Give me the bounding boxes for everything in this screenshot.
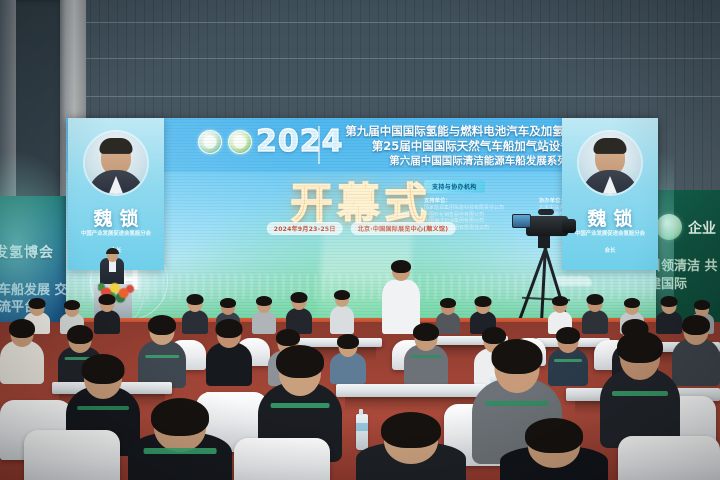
audience-person <box>0 322 44 384</box>
side-banner-left-line1: 发氢博会 <box>0 242 66 262</box>
audience-person <box>128 404 232 480</box>
audience-person <box>582 296 608 334</box>
audience-person <box>286 294 312 334</box>
audience-chair <box>24 430 120 480</box>
speaker-avatar-left <box>85 132 147 194</box>
speaker-org-left: 中国产业发展促进会氢能分会 <box>72 230 160 238</box>
speaker-name-left: 魏锁 <box>68 204 164 231</box>
audience-person <box>252 298 276 334</box>
side-banner-right-line1: 企业 <box>688 218 716 238</box>
camera-viewfinder-screen <box>512 214 531 228</box>
presenter-hair <box>106 248 119 254</box>
event-date-badge: 2024年9月23-25日 <box>267 222 343 235</box>
side-banner-right-line2: 引领清洁 共建国际 <box>648 258 720 294</box>
organizer-logo-icon-1 <box>198 130 222 154</box>
banner-logo-icon <box>656 214 682 240</box>
audience-table <box>336 384 486 397</box>
audience-person <box>138 318 186 388</box>
audience-person <box>404 326 448 386</box>
event-venue-badge: 北京·中国国际展览中心(顺义馆) <box>351 222 456 235</box>
camera-microphone <box>538 209 554 215</box>
speaker-avatar-right <box>579 132 641 194</box>
audience-chair <box>618 436 720 480</box>
wall-seam <box>0 96 720 97</box>
audience-person <box>330 292 354 334</box>
audience-person <box>206 322 252 386</box>
organizer-logo-icon-2 <box>228 130 252 154</box>
conference-photo-scene: 发氢博会 车船发展 交流平台 企业 引领清洁 共建国际 2024 第九届中国国际… <box>0 0 720 480</box>
audience-chair <box>234 438 330 480</box>
header-divider <box>318 126 320 164</box>
wall-seam <box>0 58 720 59</box>
camera-tripod <box>508 206 586 334</box>
tripod-head <box>538 236 550 248</box>
audience-person <box>500 424 608 480</box>
audience-person <box>600 336 680 448</box>
wall-seam <box>0 22 720 23</box>
audience-person <box>356 418 466 480</box>
audience-person-standing <box>382 262 420 334</box>
camera-lens-icon <box>562 219 576 233</box>
event-date-badges: 2024年9月23-25日 北京·中国国际展览中心(顺义馆) <box>267 222 456 235</box>
